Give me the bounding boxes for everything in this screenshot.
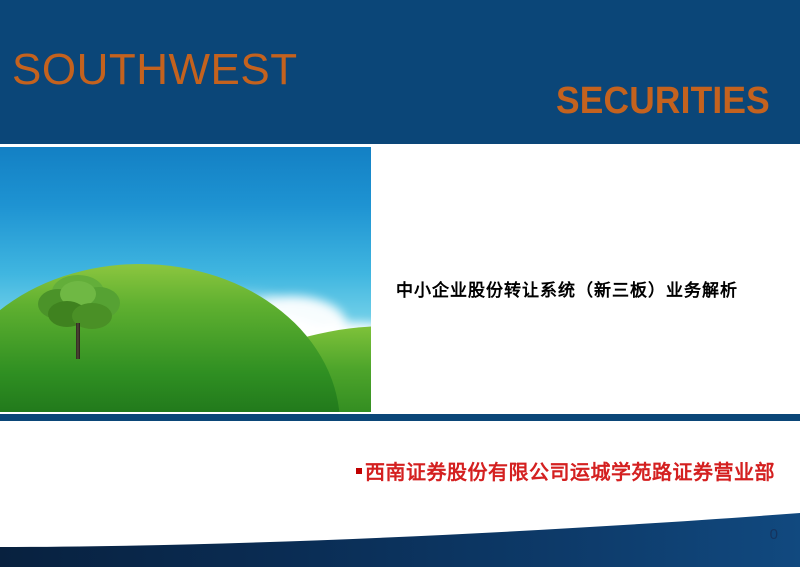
- page-number: 0: [770, 527, 778, 542]
- divider-rule: [0, 414, 800, 421]
- organization-line: 西南证券股份有限公司运城学苑路证券营业部: [356, 456, 775, 485]
- slide-header-band: SOUTHWEST SECURITIES: [0, 0, 800, 144]
- presentation-slide: SOUTHWEST SECURITIES 中小企业股份转让系统（新三板）业务解析…: [0, 0, 800, 567]
- landscape-photo: [0, 147, 371, 412]
- organization-name: 西南证券股份有限公司运城学苑路证券营业部: [365, 456, 775, 485]
- slide-title: 中小企业股份转让系统（新三板）业务解析: [396, 276, 738, 301]
- brand-name-securities: SECURITIES: [556, 82, 770, 120]
- footer-curve-band: [0, 507, 800, 567]
- tree-trunk: [76, 323, 80, 359]
- square-bullet-icon: [356, 468, 362, 474]
- brand-name-southwest: SOUTHWEST: [12, 48, 298, 92]
